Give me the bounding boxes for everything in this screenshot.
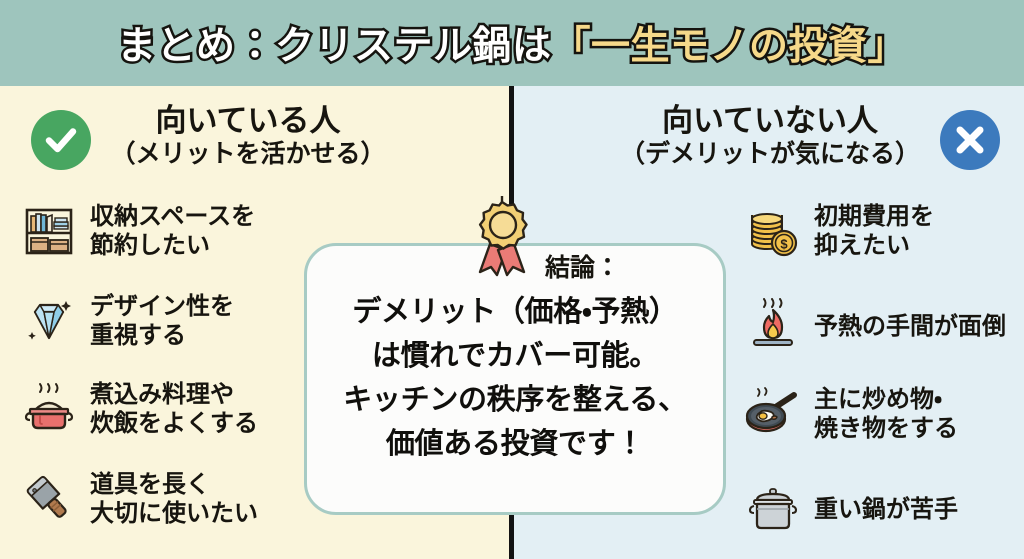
page-title-plain: まとめ：クリステル鍋は [117,15,552,71]
page-title: まとめ：クリステル鍋は 「一生モノの投資」 [0,0,1024,86]
right-heading-main: 向いていない人 [662,103,878,139]
conclusion-body: デメリット（価格・予熱） は慣れでカバー可能。 キッチンの秩序を整える、 価値あ… [304,290,726,466]
list-item-label: 初期費用を 抑えたい [814,202,934,260]
list-item: 煮込み料理や 炊飯をよくする [18,378,258,440]
conclusion-label: 結論： [545,248,620,284]
right-heading-sub: （デメリットが気になる） [620,139,920,169]
list-item-label: 予熱の手間が面倒 [814,312,1006,341]
list-item: 重い鍋が苦手 [742,478,958,540]
frying-pan-egg-icon [742,383,804,445]
list-item: 主に炒め物・ 焼き物をする [742,383,958,445]
left-heading-main: 向いている人 [155,103,340,139]
flame-stove-icon [742,295,804,357]
coins-money-icon: $ [742,200,804,262]
list-item: 収納スペースを 節約したい [18,200,255,262]
diamond-icon [18,290,80,352]
list-item: $ 初期費用を 抑えたい [742,200,934,262]
list-item: 予熱の手間が面倒 [742,295,1006,357]
infographic-canvas: まとめ：クリステル鍋は 「一生モノの投資」 向いている人 （メリットを活かせる）… [0,0,1024,559]
list-item-label: デザイン性を 重視する [90,292,234,350]
list-item-label: 主に炒め物・ 焼き物をする [814,385,958,443]
bookshelf-storage-icon [18,200,80,262]
page-title-quoted: 「一生モノの投資」 [552,15,908,71]
cleaver-knife-icon [18,468,80,530]
list-item: 道具を長く 大切に使いたい [18,468,258,530]
red-stew-pot-icon [18,378,80,440]
heavy-steel-pot-icon [742,478,804,540]
left-heading-sub: （メリットを活かせる） [110,139,385,169]
svg-text:$: $ [780,237,788,252]
list-item-label: 重い鍋が苦手 [814,495,958,524]
check-circle-icon [31,110,91,170]
left-column-heading: 向いている人 （メリットを活かせる） [98,103,398,169]
list-item-label: 収納スペースを 節約したい [90,202,255,260]
award-rosette-icon [468,196,536,282]
list-item-label: 煮込み料理や 炊飯をよくする [90,380,258,438]
right-column-heading: 向いていない人 （デメリットが気になる） [620,103,920,169]
cross-circle-icon [940,110,1000,170]
list-item-label: 道具を長く 大切に使いたい [90,470,258,528]
list-item: デザイン性を 重視する [18,290,234,352]
